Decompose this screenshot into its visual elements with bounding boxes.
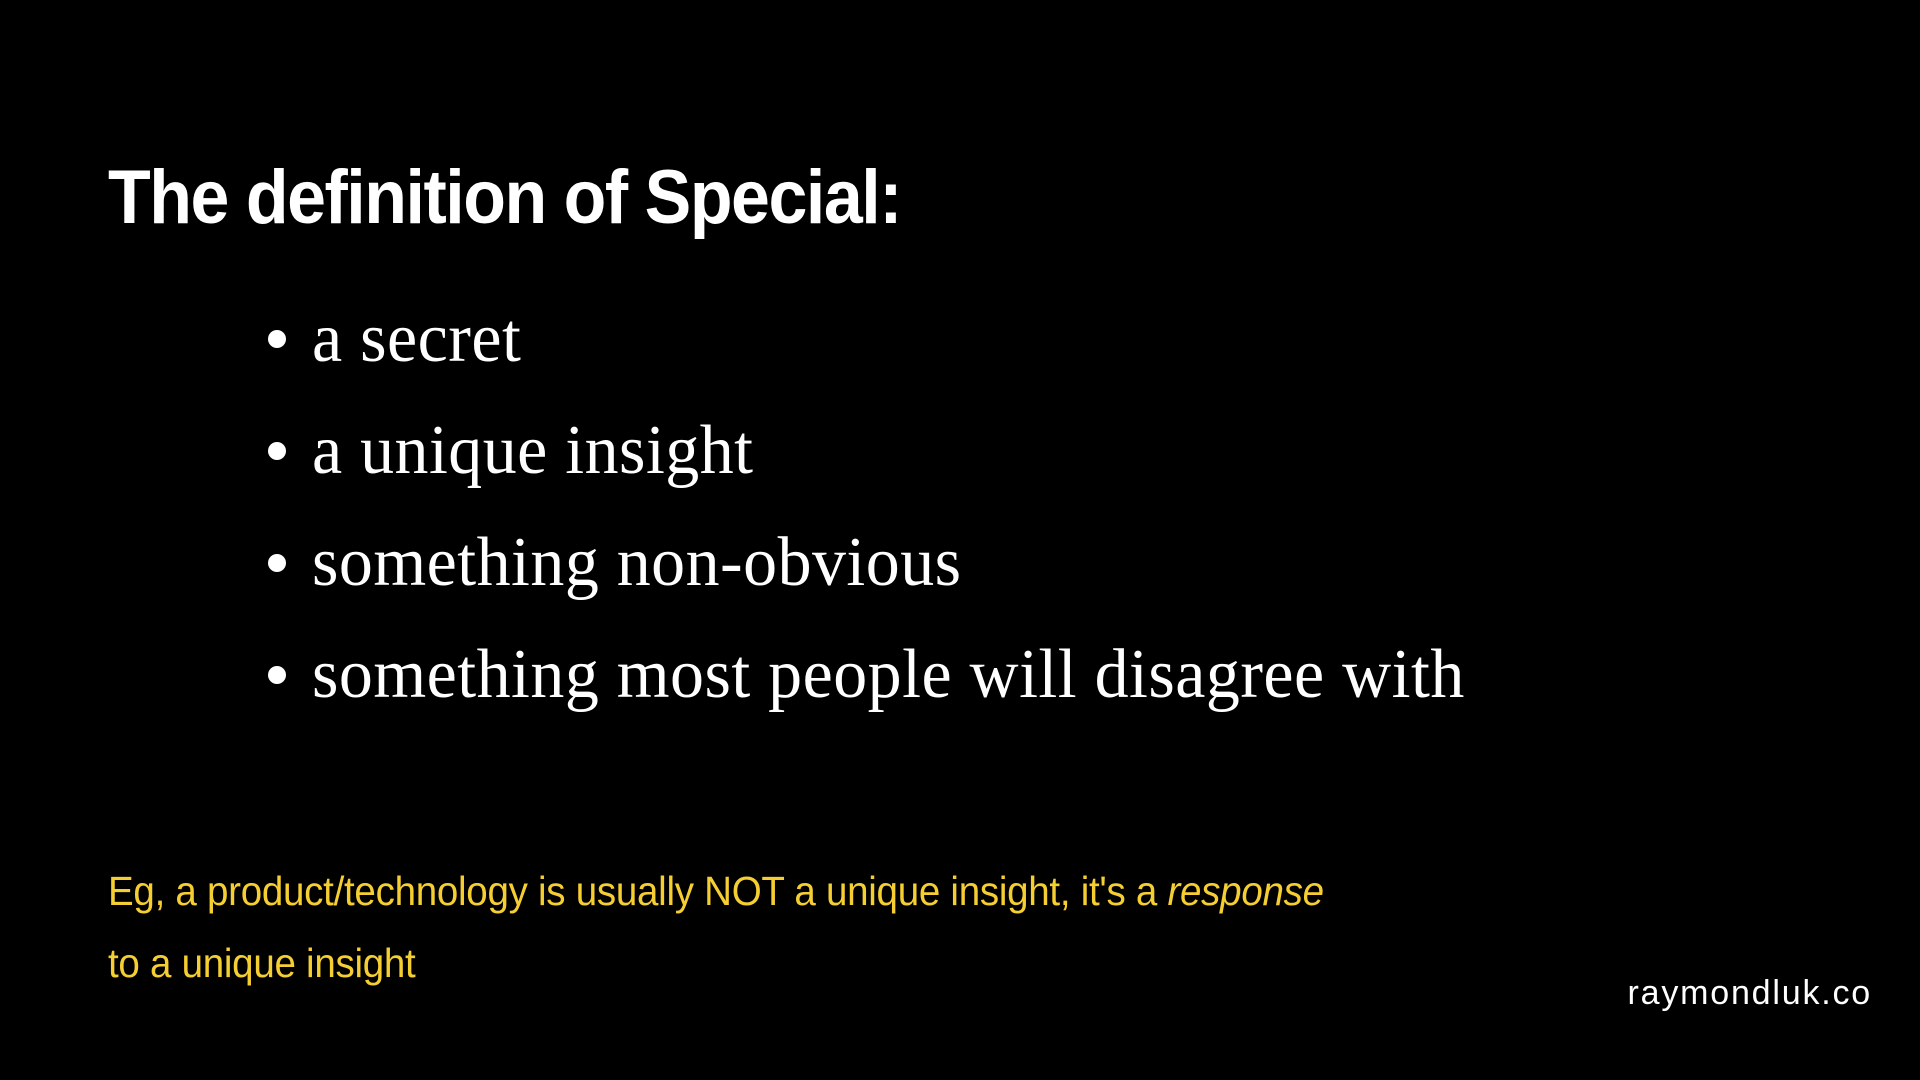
list-item: something most people will disagree with: [268, 636, 1888, 748]
bullet-dot-icon: [268, 666, 312, 684]
note-line-1: Eg, a product/technology is usually NOT …: [108, 855, 1762, 927]
page-title: The definition of Special:: [108, 155, 901, 241]
bullet-list: a secret a unique insight something non-…: [268, 300, 1888, 748]
bullet-dot-icon: [268, 554, 312, 572]
note-line-1-text: Eg, a product/technology is usually NOT …: [108, 868, 1167, 914]
list-item-label: something non-obvious: [312, 524, 1841, 602]
note-emphasis-word: response: [1167, 868, 1323, 914]
note-line-2: to a unique insight: [108, 927, 1762, 999]
note-caption: Eg, a product/technology is usually NOT …: [108, 855, 1762, 999]
list-item: a secret: [268, 300, 1888, 412]
list-item: a unique insight: [268, 412, 1888, 524]
slide-canvas: The definition of Special: a secret a un…: [0, 0, 1920, 1080]
list-item-label: something most people will disagree with: [312, 636, 1841, 714]
bullet-dot-icon: [268, 330, 312, 348]
list-item-label: a unique insight: [312, 412, 1841, 490]
list-item-label: a secret: [312, 300, 1841, 378]
list-item: something non-obvious: [268, 524, 1888, 636]
bullet-dot-icon: [268, 442, 312, 460]
footer-website-url: raymondluk.co: [1628, 972, 1873, 1014]
